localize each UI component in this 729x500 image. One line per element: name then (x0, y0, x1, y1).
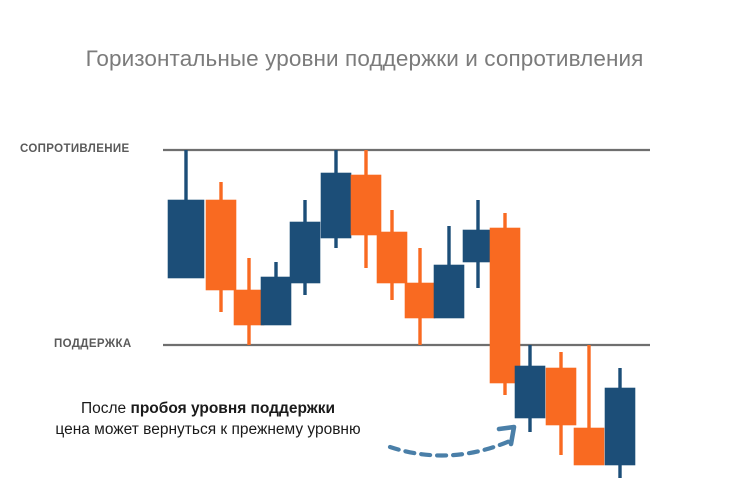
breakout-annotation: После пробоя уровня поддержки цена может… (28, 398, 388, 441)
annotation-line-1-prefix: После (81, 400, 130, 417)
candle-8-body (377, 232, 407, 283)
candle-3-body (234, 290, 264, 325)
candle-16 (605, 368, 635, 478)
candle-11-body (463, 230, 493, 262)
candle-14-body (546, 368, 576, 425)
candle-12-body (490, 228, 520, 383)
candle-9 (405, 248, 435, 345)
candle-8 (377, 210, 407, 300)
candle-6 (321, 150, 351, 248)
candle-15 (574, 345, 604, 465)
candle-3 (234, 258, 264, 345)
candle-6-body (321, 173, 351, 238)
annotation-line-2: цена может вернуться к прежнему уровню (28, 419, 388, 440)
candle-4 (261, 262, 291, 325)
candle-16-body (605, 388, 635, 465)
candle-10 (434, 226, 464, 318)
candle-9-body (405, 283, 435, 318)
candle-5-body (290, 222, 320, 283)
candle-15-body (574, 428, 604, 465)
annotation-line-1-bold: пробоя уровня поддержки (130, 400, 335, 417)
candle-1 (168, 150, 204, 278)
candle-2 (206, 182, 236, 312)
resistance-level-label: СОПРОТИВЛЕНИЕ (20, 143, 130, 155)
chart-screenshot: Горизонтальные уровни поддержки и сопрот… (0, 0, 729, 500)
candle-14 (546, 352, 576, 455)
candle-7 (351, 150, 381, 268)
candle-7-body (351, 175, 381, 235)
retest-arrow-path (390, 440, 512, 456)
candle-13-body (515, 366, 545, 418)
candle-4-body (261, 277, 291, 325)
candle-1-body (168, 200, 204, 278)
candle-5 (290, 200, 320, 295)
candle-10-body (434, 265, 464, 318)
annotation-line-1: После пробоя уровня поддержки (28, 398, 388, 419)
candle-2-body (206, 200, 236, 290)
candle-11 (463, 200, 493, 288)
support-level-label: ПОДДЕРЖКА (54, 338, 132, 350)
